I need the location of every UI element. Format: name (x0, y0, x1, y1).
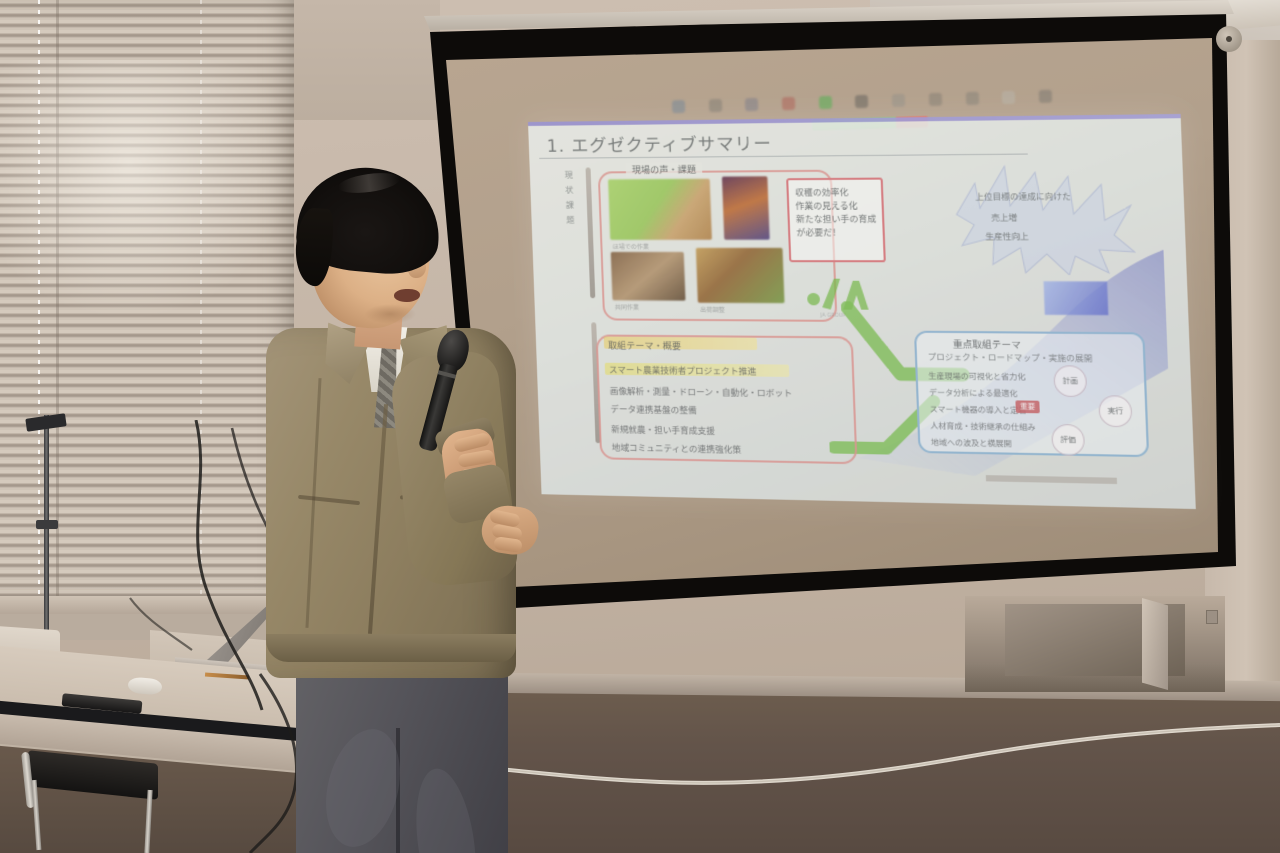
blind-cord[interactable] (38, 0, 40, 598)
priority-theme-subtitle: プロジェクト・ロードマップ・実施の展開 (928, 352, 1093, 365)
photos-icon[interactable] (1002, 90, 1015, 103)
photo-caption: 出荷調整 (700, 305, 725, 314)
photo-workers (611, 252, 686, 301)
callout-line: 収穫の効率化 (795, 187, 875, 201)
launchpad-icon[interactable] (709, 98, 722, 111)
photo-caption: ほ場での作業 (612, 242, 649, 251)
callout-line: が必要だ！ (796, 227, 876, 241)
cycle-node-plan: 計画 (1053, 365, 1087, 397)
presenter (268, 168, 578, 853)
reminders-icon[interactable] (892, 93, 905, 106)
wall-outlet[interactable] (1206, 610, 1218, 624)
screen-roller-pin (1226, 36, 1232, 42)
wall-recess-edge (1142, 598, 1168, 690)
mini-chart-thumbnail (1043, 281, 1108, 315)
presentation-slide: 1. エグゼクティブサマリー 現 状 課 題 現場の声・課題 ほ場での作業 共同… (528, 114, 1196, 509)
photo-field-harvest (608, 179, 712, 240)
initiative-theme-title: 取組テーマ・概要 (608, 339, 681, 353)
chin-shadow (364, 304, 416, 324)
preview-icon[interactable] (965, 91, 978, 104)
calendar-icon[interactable] (819, 95, 832, 108)
priority-line: 地域への波及と横展開 (931, 437, 1012, 450)
starburst-line: 上位目標の達成に向けた (975, 191, 1071, 203)
photo-interview (722, 176, 770, 239)
starburst-line: 売上増 (991, 212, 1017, 224)
section-marker-bar (586, 167, 596, 298)
safari-icon[interactable] (745, 97, 758, 110)
notes-icon[interactable] (855, 94, 868, 107)
theme-line: 地域コミュニティとの連携強化策 (612, 441, 742, 456)
voice-callout-box: 収穫の効率化 作業の見える化 新たな担い手の育成 が必要だ！ (786, 178, 886, 263)
stand-clamp (36, 520, 58, 529)
blind-cord[interactable] (200, 0, 202, 598)
priority-line: データ分析による最適化 (929, 387, 1018, 400)
finder-icon[interactable] (672, 99, 685, 112)
callout-line: 作業の見える化 (795, 200, 875, 214)
priority-line: 人材育成・技術継承の仕組み (930, 420, 1036, 433)
priority-theme-title: 重点取組テーマ (953, 337, 1022, 351)
theme-line: データ連携基盤の整備 (610, 403, 697, 416)
callout-line: 新たな担い手の育成 (796, 214, 876, 228)
starburst-line: 生産性向上 (985, 231, 1029, 243)
conference-room-photo: 1. エグゼクティブサマリー 現 状 課 題 現場の声・課題 ほ場での作業 共同… (0, 0, 1280, 853)
mail-icon[interactable] (782, 96, 795, 109)
goal-starburst (942, 159, 1137, 275)
slide-title: 1. エグゼクティブサマリー (546, 129, 772, 157)
slide-footer-rule (986, 475, 1117, 484)
priority-line: 生産現場の可視化と省力化 (928, 370, 1025, 383)
keynote-icon[interactable] (929, 92, 942, 105)
photo-caption: 共同作業 (615, 302, 640, 311)
blind-panel-divider (56, 0, 59, 598)
priority-line: スマート機器の導入と定着 (929, 403, 1026, 416)
theme-line: スマート農業技術者プロジェクト推進 (609, 364, 757, 378)
priority-badge: 重要 (1015, 400, 1039, 413)
theme-line: 画像解析・測量・ドローン・自動化・ロボット (610, 385, 793, 400)
cycle-node-do: 実行 (1098, 395, 1132, 427)
theme-line: 新規就農・担い手育成支援 (611, 423, 715, 437)
ja-group-logo: JA GROUP (806, 272, 871, 318)
current-issues-label: 現場の声・課題 (626, 163, 703, 177)
jacket-hem (266, 634, 516, 662)
settings-icon[interactable] (1039, 89, 1052, 102)
photo-produce (696, 248, 785, 303)
svg-text:JA GROUP: JA GROUP (819, 313, 846, 318)
